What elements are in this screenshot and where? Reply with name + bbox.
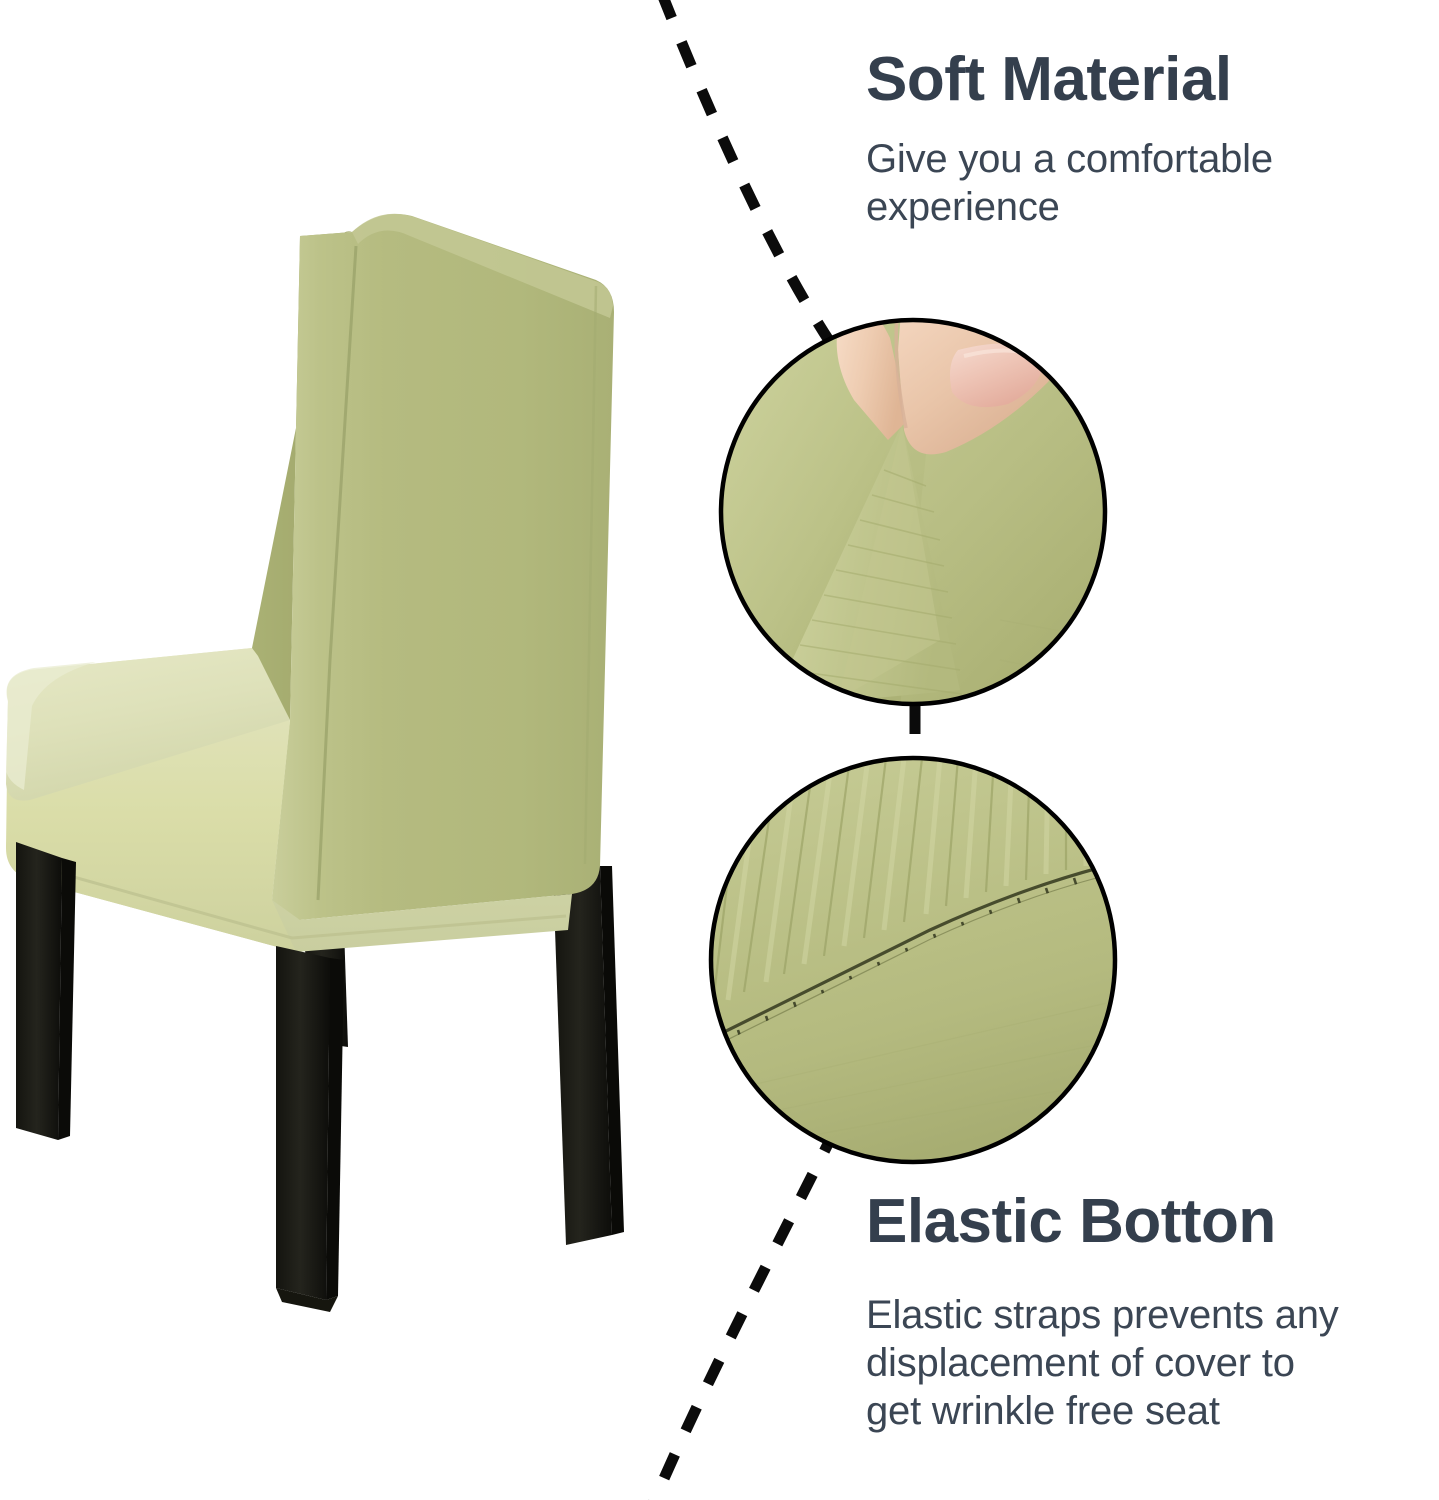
- chair-with-slipcover: [6, 214, 624, 1312]
- dashed-arc-upper: [662, 0, 830, 342]
- dashed-arc-lower: [652, 1128, 836, 1500]
- callout-lines: [652, 0, 836, 1500]
- feature-block-elastic-bottom: Elastic Botton Elastic straps prevents a…: [866, 1190, 1439, 1435]
- feature-body-line: Elastic straps prevents any: [866, 1291, 1439, 1339]
- detail-circle-elastic-bottom: [710, 758, 1122, 1170]
- detail-circle-soft-material: [720, 300, 1110, 714]
- feature-block-soft-material: Soft Material Give you a comfortable exp…: [866, 48, 1426, 231]
- feature-body-soft-material: Give you a comfortable experience: [866, 135, 1426, 231]
- feature-body-line: displacement of cover to: [866, 1339, 1439, 1387]
- feature-body-elastic-bottom: Elastic straps prevents any displacement…: [866, 1291, 1439, 1435]
- infographic-canvas: Soft Material Give you a comfortable exp…: [0, 0, 1439, 1500]
- feature-body-line: experience: [866, 183, 1426, 231]
- feature-headline-soft-material: Soft Material: [866, 48, 1426, 111]
- feature-body-line: get wrinkle free seat: [866, 1387, 1439, 1435]
- feature-body-line: Give you a comfortable: [866, 135, 1426, 183]
- feature-headline-elastic-bottom: Elastic Botton: [866, 1190, 1439, 1253]
